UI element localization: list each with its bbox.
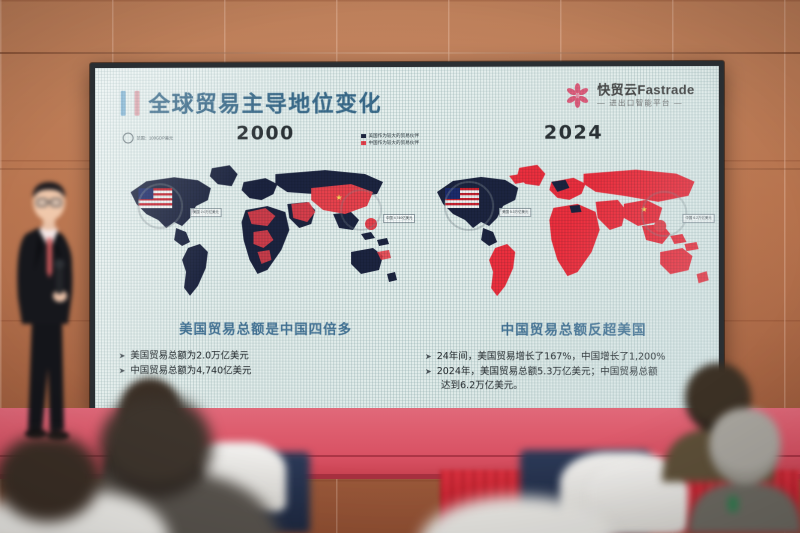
panel-caption-2024: 中国贸易总额反超美国 bbox=[423, 318, 719, 339]
bullet-text: 24年间，美国贸易增长了167%，中国增长了1,200% bbox=[437, 350, 666, 365]
list-item: ➤ 美国贸易总额为2.0万亿美元 bbox=[119, 349, 415, 364]
page-title: 全球贸易主导地位变化 bbox=[148, 86, 382, 119]
bullet-arrow-icon: ➤ bbox=[119, 349, 126, 363]
map-svg-2024: ★ bbox=[423, 147, 719, 308]
legend-label: 美国作为较大的贸易伙伴 bbox=[368, 132, 419, 139]
scale-circle-icon bbox=[123, 133, 134, 144]
legend-label: 中国作为较大的贸易伙伴 bbox=[368, 139, 419, 146]
projection-screen: 全球贸易主导地位变化 bbox=[95, 66, 719, 410]
title-accent-bar-red bbox=[135, 90, 140, 115]
brand-logo: 快贸云Fastrade — 进出口智能平台 — bbox=[564, 82, 695, 108]
flower-logo-icon bbox=[564, 82, 590, 108]
legend-swatch-us-icon bbox=[362, 134, 367, 138]
brand-tagline: — 进出口智能平台 — bbox=[597, 99, 694, 107]
audience-member bbox=[686, 392, 800, 533]
panel-2000: 2000 范围：100GDP美元 美国作为较大的贸易伙伴 bbox=[117, 122, 415, 402]
brand-name: 快贸云Fastrade bbox=[597, 83, 694, 97]
bullet-text: 2024年，美国贸易总额5.3万亿美元；中国贸易总额 bbox=[437, 365, 658, 380]
map-svg-2000: ★ bbox=[117, 148, 415, 308]
title-accent-bar-blue bbox=[121, 90, 126, 115]
map-callout-us: 美国 2.0万亿美元 bbox=[190, 208, 222, 217]
audience-member bbox=[418, 470, 618, 533]
bullet-text: 美国贸易总额为2.0万亿美元 bbox=[130, 349, 249, 364]
projection-screen-frame: 全球贸易主导地位变化 bbox=[90, 61, 724, 415]
legend-swatch-cn-icon bbox=[362, 141, 367, 145]
legend-item: 中国作为较大的贸易伙伴 bbox=[362, 139, 419, 146]
bullet-arrow-icon: ➤ bbox=[425, 350, 432, 364]
presentation-slide: 全球贸易主导地位变化 bbox=[95, 66, 719, 410]
audience-member bbox=[0, 436, 170, 533]
world-map-2000: 范围：100GDP美元 美国作为较大的贸易伙伴 中国作为较大的贸易伙伴 bbox=[117, 148, 415, 308]
svg-text:★: ★ bbox=[336, 193, 343, 202]
map-callout-us: 美国 5.3万亿美元 bbox=[499, 208, 531, 217]
panel-year-label: 2024 bbox=[423, 121, 719, 144]
map-legend: 美国作为较大的贸易伙伴 中国作为较大的贸易伙伴 bbox=[362, 132, 419, 146]
map-callout-cn: 中国 6.2万亿美元 bbox=[682, 214, 714, 223]
map-callout-cn: 中国 4,740亿美元 bbox=[383, 214, 415, 223]
map-scale-note: 范围：100GDP美元 bbox=[123, 132, 173, 143]
conference-room-photo: 全球贸易主导地位变化 bbox=[0, 0, 800, 533]
slide-title-row: 全球贸易主导地位变化 bbox=[121, 86, 382, 119]
world-map-2024: ★ bbox=[423, 147, 719, 308]
panel-caption-2000: 美国贸易总额是中国四倍多 bbox=[117, 318, 415, 338]
brand-text: 快贸云Fastrade — 进出口智能平台 — bbox=[597, 83, 694, 107]
bullet-arrow-icon: ➤ bbox=[425, 365, 432, 379]
